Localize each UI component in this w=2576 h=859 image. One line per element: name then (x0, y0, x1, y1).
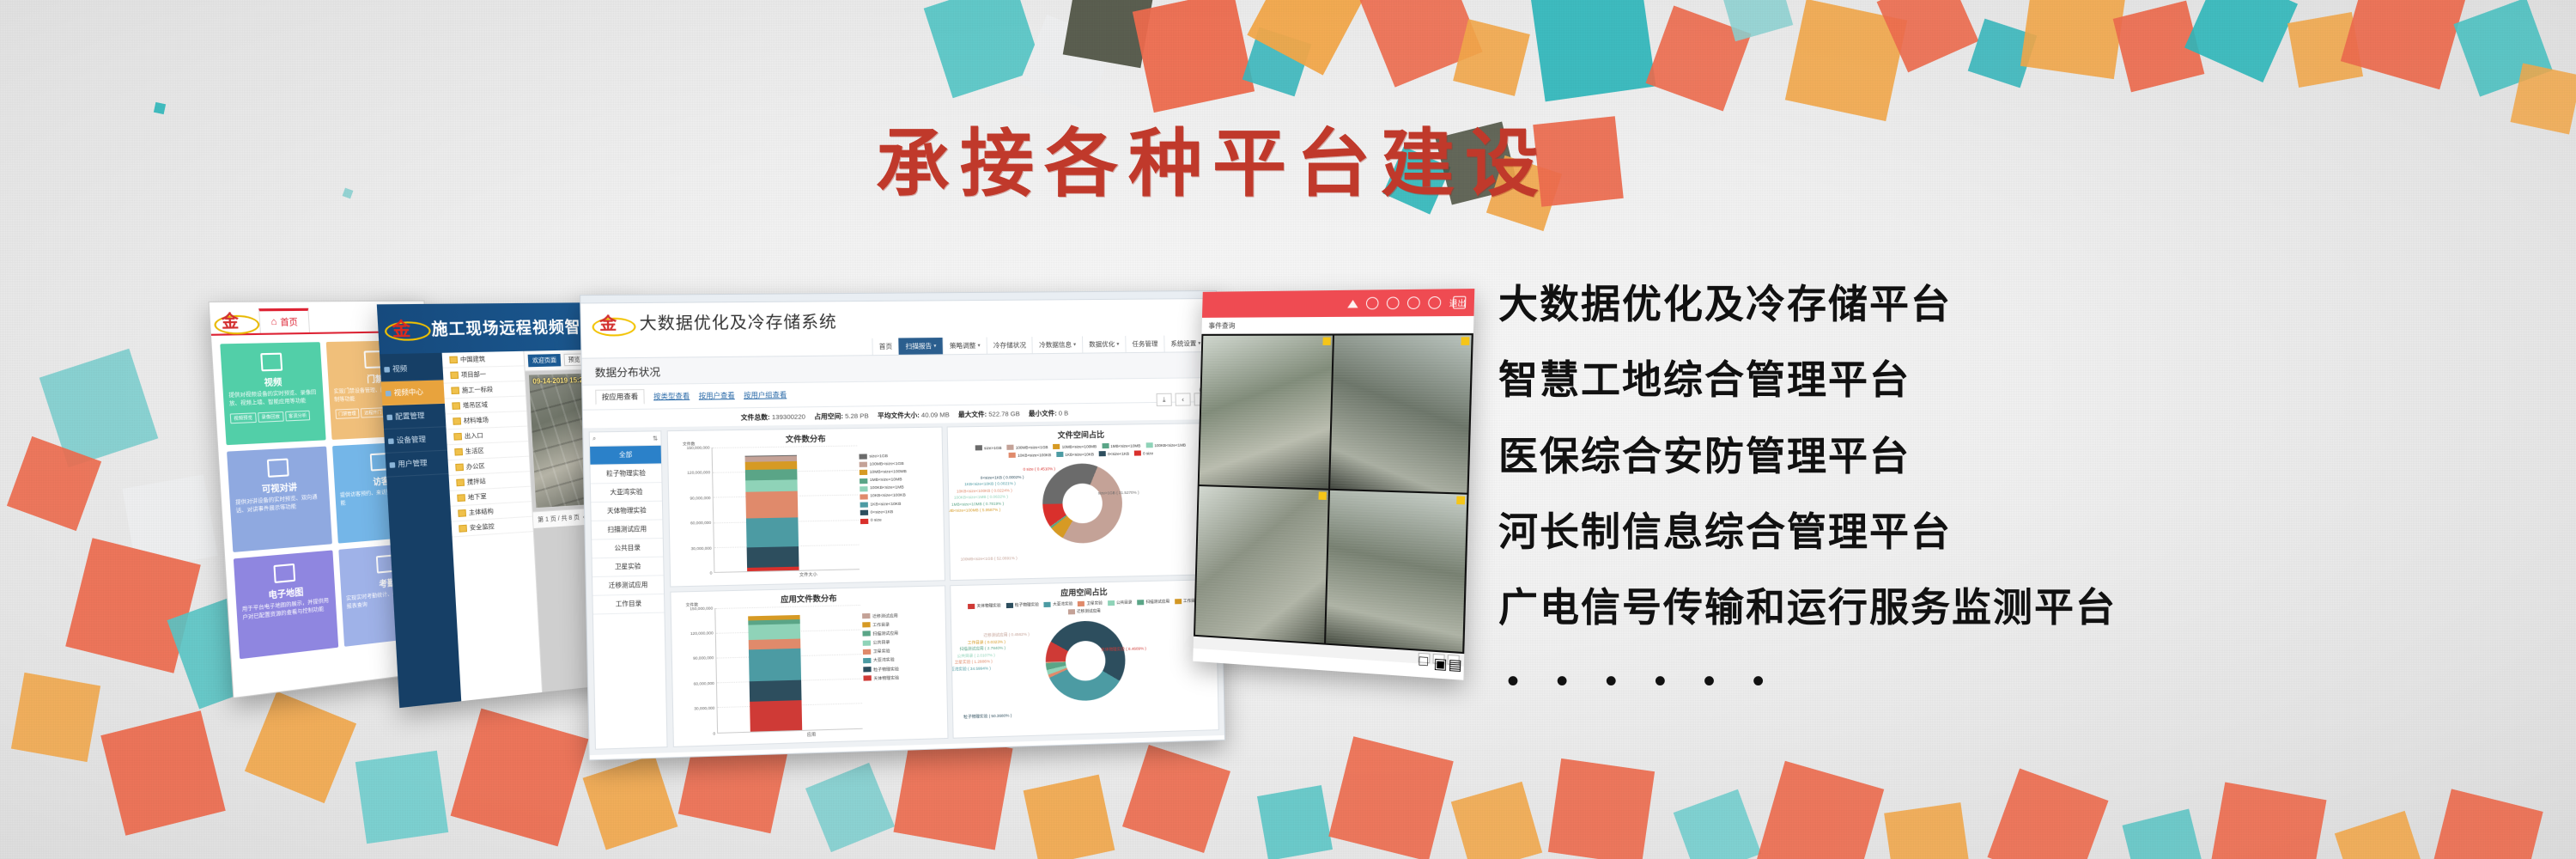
nav-item-冷存储状况[interactable]: 冷存储状况 (987, 337, 1033, 354)
legend-item[interactable]: 天体物理实验 (968, 603, 1000, 609)
legend-item[interactable]: 大亚湾实验 (863, 655, 941, 664)
decor-square (1884, 802, 1971, 859)
pie-annotation: 10MB<size<100MB ( 5.9587% ) (946, 508, 1000, 513)
bar-segment[interactable] (748, 649, 800, 681)
legend-label: 10MB<size<100MB (870, 470, 907, 475)
pager-label: 第 1 页 / 共 8 页 (538, 513, 580, 524)
donut-ring[interactable] (1045, 619, 1126, 701)
card-chip[interactable]: 视频预览 (230, 412, 257, 423)
scanline-overlay (1326, 490, 1467, 652)
decor-square (583, 755, 678, 850)
bullet-icon (386, 390, 392, 396)
home-icon: ⌂ (270, 316, 277, 327)
legend-item[interactable]: 10MB<size<100MB (1054, 443, 1097, 449)
decor-square (1024, 775, 1115, 859)
legend-swatch (859, 478, 866, 484)
legend-swatch (1044, 601, 1051, 606)
legend-label: 100MB<size<1GB (870, 462, 904, 467)
camera-tile[interactable] (1326, 490, 1467, 652)
legend-label: 迁移测试应用 (872, 612, 898, 619)
folder-icon (449, 356, 458, 364)
legend-swatch (863, 667, 871, 672)
folder-icon (456, 478, 465, 486)
y-tick-label: 90,000,000 (690, 496, 710, 501)
bar-segment[interactable] (747, 567, 799, 571)
legend-item[interactable]: 100MB<size<1GB (1007, 444, 1048, 450)
legend-label: 卫星实验 (1086, 600, 1103, 606)
decor-square (1122, 745, 1230, 853)
search-icon: ⌕ (592, 436, 596, 442)
legend-item[interactable]: 0 size (860, 517, 938, 524)
card-chip[interactable]: 客流分析 (285, 411, 311, 422)
app-title: 大数据优化及冷存储系统 (639, 308, 837, 334)
legend-item[interactable]: 1MB<size<10MB (1102, 442, 1140, 448)
ellipsis-dots: • • • • • • (1507, 662, 2529, 701)
sidebar-item[interactable]: 天体物理实验 (591, 502, 662, 521)
stat-item: 平均文件大小: 40.09 MB (878, 410, 950, 420)
chart-app-space-share: 应用空间占比 天体物理实验粒子物理实验大亚湾实验卫星实验公共目录扫描测试应用工作… (950, 579, 1219, 739)
camera-badge (1461, 337, 1469, 345)
scanline-overlay (1195, 486, 1328, 643)
legend-item[interactable]: 扫描测试应用 (1137, 599, 1170, 605)
brand-logo-icon: 金 (592, 310, 632, 333)
bar-segment[interactable] (748, 624, 800, 639)
platform-item: 广电信号传输和运行服务监测平台 (1498, 587, 2529, 628)
banner-stage: 金 ⌂ 首页 视频提供对视频设备的实时预览、录像回放、视频上墙、智能应用等功能视… (0, 0, 2576, 859)
camera-timestamp: 09-14-2019 15:21 (532, 376, 586, 386)
card-chip[interactable]: 远程开门 (361, 407, 385, 417)
y-tick-label: 0 (713, 731, 715, 735)
donut-legend: size>1GB100MB<size<1GB10MB<size<100MB1MB… (948, 440, 1213, 459)
w2-nav-item[interactable]: 用户管理 (386, 451, 449, 478)
legend-swatch (863, 676, 871, 681)
decor-square (2020, 0, 2127, 79)
legend-item[interactable]: 0 size (1134, 450, 1153, 455)
legend-swatch (862, 640, 870, 645)
legend-item[interactable]: 粒子物理实验 (1006, 602, 1039, 608)
legend-swatch (1054, 444, 1060, 449)
camera-badge (1318, 491, 1326, 500)
legend-item[interactable]: 1MB<size<10MB (859, 477, 937, 484)
decor-square (1757, 761, 1884, 859)
legend-swatch (1006, 602, 1013, 607)
decor-square (2428, 789, 2543, 859)
video-icon (260, 353, 283, 372)
legend-swatch (1108, 600, 1115, 605)
legend-label: 0 size (1143, 451, 1153, 455)
legend-swatch (1175, 599, 1182, 604)
legend-item[interactable]: 0<size<1KB (1099, 451, 1129, 457)
sidebar-list[interactable]: 全部粒子物理实验大亚湾实验天体物理实验扫描测试应用公共目录卫星实验迁移测试应用工… (590, 446, 664, 615)
stat-value: 139300220 (770, 412, 805, 421)
legend-item[interactable]: 100MB<size<1GB (859, 461, 937, 468)
legend-swatch (862, 649, 870, 654)
card-chip[interactable]: 录像回放 (258, 411, 283, 423)
legend-label: 1MB<size<10MB (1110, 443, 1140, 448)
stat-item: 占用空间: 5.28 PB (814, 411, 869, 421)
legend-item[interactable]: size>1GB (859, 453, 937, 460)
bullet-icon (386, 414, 392, 420)
legend-swatch (1009, 453, 1016, 458)
legend-label: 0<size<1KB (1108, 451, 1129, 455)
nav-item-首页[interactable]: 首页 (872, 338, 898, 356)
decor-square (2207, 782, 2326, 859)
pie-annotation: 卫星实验 ( 1.2886% ) (955, 660, 993, 666)
chevron-down-icon: ▾ (977, 343, 980, 349)
platform-item: 河长制信息综合管理平台 (1498, 511, 2529, 552)
legend-item[interactable]: 扫描测试应用 (862, 629, 940, 637)
bar-segment[interactable] (746, 546, 799, 568)
legend-item[interactable]: 天体物理实验 (863, 673, 941, 682)
legend-item[interactable]: 0<size<1KB (860, 509, 938, 515)
legend-swatch (863, 658, 871, 663)
legend-label: 粒子物理实验 (1015, 602, 1039, 608)
stacked-bar-chart: 文件数030,000,00060,000,00090,000,000120,00… (668, 444, 944, 574)
info-icon[interactable] (1407, 296, 1420, 309)
bar-segment[interactable] (745, 491, 798, 518)
bullet-icon (388, 438, 394, 444)
card-chip[interactable]: 门禁管理 (335, 408, 360, 419)
legend-label: 1KB<size<10KB (1065, 452, 1094, 457)
home-icon[interactable] (1347, 300, 1358, 308)
platform-item: 医保综合安防管理平台 (1498, 436, 2529, 477)
legend-label: 公共目录 (1116, 600, 1133, 605)
folder-icon (453, 417, 461, 425)
pie-annotation: size>1GB ( 31.5270% ) (1098, 490, 1139, 495)
scanline-overlay (1200, 336, 1333, 489)
w4-header[interactable]: 退出 (1202, 289, 1474, 318)
w3-brand: 金 大数据优化及冷存储系统 (580, 299, 1217, 341)
pie-annotation: 大亚湾实验 ( 34.5994% ) (950, 666, 991, 672)
legend-label: 1MB<size<10MB (870, 478, 902, 483)
feature-card[interactable]: 电子地图用于平台电子地图的展示，并提供用户对已配置资源的查看与控制功能 (234, 551, 338, 660)
window-dashboard[interactable]: 金 大数据优化及冷存储系统 首页扫描报告▾策略调整▾冷存储状况冷数据信息▾数据优… (580, 290, 1225, 760)
legend-label: 迁移测试应用 (1077, 608, 1101, 614)
legend-swatch (1007, 445, 1014, 450)
decor-square (245, 691, 356, 803)
legend-item[interactable]: 1KB<size<10KB (860, 501, 938, 508)
sidebar-item[interactable]: 全部 (590, 446, 661, 466)
folder-icon (457, 494, 465, 502)
legend-item[interactable]: 公共目录 (862, 637, 940, 645)
y-axis: 文件数030,000,00060,000,00090,000,000120,00… (670, 448, 714, 574)
bar-stack[interactable] (748, 614, 802, 731)
w2-nav-item[interactable]: 配置管理 (382, 404, 446, 429)
legend-swatch (859, 454, 866, 459)
chart-legend: size>1GB100MB<size<1GB10MB<size<100MB1MB… (857, 444, 940, 570)
legend-swatch (860, 503, 867, 508)
decor-square (343, 188, 354, 199)
stat-value: 522.78 GB (987, 410, 1020, 418)
pie-annotation: 工作目录 ( 0.0323% ) (968, 639, 1005, 645)
stats-action-button[interactable]: ‹ (1176, 393, 1191, 405)
decor-square (805, 763, 895, 852)
nav-item-系统设置[interactable]: 系统设置▾ (1163, 335, 1206, 352)
legend-item[interactable]: 迁移测试应用 (862, 611, 940, 618)
window-monitoring[interactable]: 退出 事件查询 □▣▤ (1193, 289, 1474, 680)
stat-item: 最大文件: 522.78 GB (958, 409, 1020, 419)
legend-item[interactable]: 工作目录 (862, 620, 940, 628)
y-tick-label: 150,000,000 (690, 606, 713, 611)
legend-item[interactable]: 卫星实验 (1078, 600, 1103, 606)
nav-item-策略调整[interactable]: 策略调整▾ (942, 338, 986, 355)
pie-annotation: 1MB<size<10MB ( 0.7819% ) (951, 502, 1004, 507)
legend-label: 扫描测试应用 (1145, 599, 1170, 605)
folder-icon (455, 464, 464, 472)
legend-label: 100KB<size<1MB (870, 486, 904, 491)
folder-icon (458, 509, 466, 517)
legend-label: 0 size (871, 519, 882, 523)
bar-segment[interactable] (744, 469, 797, 480)
y-tick-label: 0 (710, 570, 713, 575)
bar-stack[interactable] (744, 455, 799, 571)
bullet-icon (389, 462, 395, 468)
decor-square (1988, 769, 2109, 859)
camera-tile[interactable] (1330, 335, 1472, 492)
download-icon[interactable] (1428, 296, 1441, 309)
legend-label: 1KB<size<10KB (870, 502, 901, 507)
legend-label: 公共目录 (873, 639, 890, 646)
legend-swatch (862, 613, 870, 618)
donut-ring[interactable] (1042, 463, 1122, 544)
legend-label: 10KB<size<100KB (1018, 453, 1051, 458)
legend-label: 10MB<size<100MB (1062, 444, 1097, 449)
sidebar-item[interactable]: 粒子物理实验 (590, 464, 661, 484)
bar-segment[interactable] (750, 700, 802, 731)
view-tab[interactable]: 按用户组查看 (744, 390, 787, 400)
card-chips: 视频预览录像回放客流分析 (230, 410, 319, 423)
card-title: 视频 (228, 374, 317, 390)
view-tab[interactable]: 按类型查看 (653, 392, 690, 402)
decor-square (11, 673, 100, 762)
stat-item: 最小文件: 0 B (1029, 408, 1069, 418)
card-description: 提供对讲设备的实时预览、双向通话、对讲事件展示等功能 (235, 494, 325, 516)
legend-label: 卫星实验 (873, 648, 890, 655)
legend-item[interactable]: 100KB<size<1MB (860, 484, 938, 491)
view-tab[interactable]: 按应用查看 (595, 389, 645, 405)
feature-card[interactable]: 视频提供对视频设备的实时预览、录像回放、视频上墙、智能应用等功能视频预览录像回放… (220, 342, 325, 445)
legend-label: 100KB<size<1MB (1154, 442, 1186, 448)
legend-label: 天体物理实验 (873, 674, 899, 681)
pie-annotation: 100KB<size<1MB ( 0.0632% ) (954, 495, 1008, 500)
legend-label: 粒子物理实验 (873, 666, 899, 673)
legend-swatch (860, 518, 867, 523)
nav-item-数据优化[interactable]: 数据优化▾ (1082, 336, 1126, 353)
decor-square (1451, 782, 1542, 859)
decor-square (154, 102, 166, 114)
w4-subbar[interactable]: 事件查询 (1201, 316, 1473, 334)
stat-value: 0 B (1057, 409, 1069, 417)
chart-legend: 迁移测试应用工作目录扫描测试应用公共目录卫星实验大亚湾实验粒子物理实验天体物理实… (860, 602, 943, 728)
chart-file-space-share: 文件空间占比 size>1GB100MB<size<1GB10MB<size<1… (946, 423, 1216, 581)
pie-annotation: 扫描测试应用 ( 2.7840% ) (959, 646, 1005, 652)
scanline-overlay (1330, 335, 1472, 492)
pie-annotation: 迁移测试应用 ( 0.4562% ) (983, 632, 1030, 638)
stat-value: 40.09 MB (920, 411, 950, 419)
platform-list: 大数据优化及冷存储平台 智慧工地综合管理平台 医保综合安防管理平台 河长制信息综… (1498, 283, 2529, 701)
help-icon[interactable] (1387, 296, 1400, 309)
app-sidebar[interactable]: ⌕ ⇅ 全部粒子物理实验大亚湾实验天体物理实验扫描测试应用公共目录卫星实验迁移测… (589, 430, 668, 749)
legend-item[interactable]: 1KB<size<10KB (1056, 451, 1094, 457)
view-tab[interactable]: 按用户查看 (699, 391, 735, 401)
bar-segment[interactable] (749, 680, 801, 702)
w2-nav-item[interactable]: 视频 (380, 356, 443, 381)
chevron-down-icon: ▾ (933, 343, 936, 349)
device-icon[interactable] (1453, 296, 1466, 309)
decor-square (1453, 19, 1530, 96)
y-tick-label: 120,000,000 (687, 471, 710, 476)
folder-icon (453, 433, 462, 441)
platform-item: 大数据优化及冷存储平台 (1498, 283, 2529, 325)
pie-annotation: 0 size ( 0.4510% ) (1023, 466, 1055, 472)
pie-annotation: 公共目录 ( 2.0107% ) (957, 653, 994, 659)
y-tick-label: 30,000,000 (694, 706, 714, 711)
y-tick-label: 90,000,000 (693, 655, 714, 661)
legend-label: 大亚湾实验 (873, 657, 895, 664)
legend-item[interactable]: 迁移测试应用 (1068, 608, 1101, 614)
decor-square (1257, 785, 1333, 859)
y-tick-label: 60,000,000 (690, 521, 711, 526)
legend-label: 0<size<1KB (871, 510, 894, 515)
camera-tile[interactable] (1200, 336, 1333, 489)
chart-file-count-distribution: 文件数分布 文件数030,000,00060,000,00090,000,000… (667, 427, 945, 587)
donut-chart: 天体物理实验 ( 8.4609% )粒子物理实验 ( 50.3680% )大亚湾… (951, 612, 1218, 728)
pie-annotation: 100MB<size<1GB ( 52.0691% ) (961, 556, 1018, 561)
w2-nav-item[interactable]: 设备管理 (384, 427, 447, 454)
w2-tab-welcome[interactable]: 欢迎页面 (528, 354, 562, 367)
decor-square (100, 710, 225, 835)
nav-item-冷数据信息[interactable]: 冷数据信息▾ (1032, 336, 1082, 353)
layout-button[interactable]: □ (1418, 652, 1430, 662)
layout-button[interactable]: ▤ (1448, 654, 1460, 665)
camera-badge (1322, 338, 1330, 345)
legend-item[interactable]: 公共目录 (1108, 600, 1133, 606)
legend-swatch (1056, 452, 1063, 457)
legend-swatch (859, 462, 866, 467)
bar-segment[interactable] (745, 517, 798, 547)
platform-item: 智慧工地综合管理平台 (1498, 359, 2529, 400)
legend-label: 100MB<size<1GB (1016, 445, 1048, 450)
legend-swatch (1099, 451, 1106, 456)
legend-label: 大亚湾实验 (1053, 601, 1072, 607)
pie-annotation: 1KB<size<10KB ( 0.0021% ) (964, 481, 1016, 486)
decor-square (1133, 0, 1255, 113)
legend-swatch (1145, 442, 1152, 448)
sidebar-item[interactable]: 迁移测试应用 (592, 576, 664, 596)
camera-grid[interactable] (1194, 333, 1473, 654)
legend-item[interactable]: size>1GB (975, 445, 1002, 451)
brand-logo-icon: 金 (213, 308, 256, 332)
decor-square (1530, 0, 1656, 101)
legend-swatch (968, 603, 975, 608)
legend-label: 扫描测试应用 (872, 630, 898, 637)
chevron-down-icon: ▾ (1198, 340, 1200, 346)
bar-segment[interactable] (745, 479, 798, 492)
decor-square (355, 751, 448, 844)
stat-item: 文件总数: 139300220 (741, 411, 805, 422)
y-tick-label: 150,000,000 (687, 445, 710, 450)
w2-nav-item[interactable]: 视频中心 (381, 380, 445, 405)
legend-swatch (1102, 443, 1109, 448)
sidebar-item[interactable]: 工作目录 (592, 594, 664, 615)
card-description: 提供对视频设备的实时预览、录像回放、视频上墙、智能应用等功能 (228, 389, 319, 409)
layout-button[interactable]: ▣ (1432, 653, 1444, 663)
plot-area (712, 445, 860, 573)
decor-square (2123, 809, 2206, 859)
decor-square (1548, 758, 1655, 859)
folder-icon (452, 402, 460, 410)
legend-swatch (1068, 609, 1075, 614)
page-title-headline: 承接各种平台建设 (876, 103, 1549, 210)
pie-annotation: 天体物理实验 ( 8.4609% ) (1101, 647, 1146, 653)
sidebar-search-row[interactable]: ⌕ ⇅ (590, 431, 661, 447)
chevron-down-icon: ▾ (1116, 341, 1119, 347)
legend-item[interactable]: 粒子物理实验 (863, 665, 941, 673)
folder-icon (459, 525, 467, 533)
camera-badge (1456, 497, 1465, 505)
legend-swatch (1134, 450, 1141, 455)
sidebar-item[interactable]: 卫星实验 (592, 557, 664, 577)
legend-swatch (860, 510, 867, 515)
tab-event-query[interactable]: 事件查询 (1208, 320, 1235, 330)
folder-icon (454, 448, 463, 456)
pie-annotation: 粒子物理实验 ( 50.3680% ) (963, 714, 1012, 721)
decor-square (451, 709, 589, 847)
legend-item[interactable]: 10MB<size<100MB (859, 469, 937, 476)
user-icon[interactable] (1366, 297, 1379, 310)
legend-label: 工作目录 (872, 621, 890, 628)
legend-swatch (860, 486, 867, 491)
decor-square (1328, 736, 1453, 859)
folder-icon (451, 387, 459, 394)
legend-swatch (1137, 600, 1144, 605)
y-tick-label: 30,000,000 (691, 545, 712, 551)
intercom-icon (267, 458, 289, 477)
legend-swatch (862, 622, 870, 627)
pie-annotation: 10KB<size<100KB ( 0.0224% ) (957, 488, 1012, 493)
nav-item-任务管理[interactable]: 任务管理 (1125, 336, 1163, 353)
legend-item[interactable]: 10KB<size<100KB (1009, 452, 1051, 458)
sort-icon[interactable]: ⇅ (653, 435, 658, 442)
feature-card[interactable]: 可视对讲提供对讲设备的实时预览、双向通话、对讲事件展示等功能 (227, 447, 331, 552)
chevron-down-icon: ▾ (1073, 342, 1076, 348)
legend-item[interactable]: 10KB<size<100KB (860, 493, 938, 500)
legend-item[interactable]: 卫星实验 (862, 647, 940, 655)
folder-icon (450, 371, 459, 379)
chart-app-file-count-distribution: 应用文件数分布 文件数030,000,00060,000,00090,000,0… (670, 585, 948, 747)
decor-square (1674, 789, 1762, 859)
sidebar-item[interactable]: 扫描测试应用 (592, 520, 663, 539)
legend-label: 10KB<size<100KB (870, 494, 906, 499)
legend-item[interactable]: 100KB<size<1MB (1145, 442, 1186, 448)
camera-tile[interactable] (1195, 486, 1328, 643)
stats-action-button[interactable]: ⤓ (1157, 393, 1172, 406)
legend-swatch (975, 445, 982, 450)
pie-annotation: 0<size<1KB ( 0.0002% ) (981, 475, 1024, 480)
legend-label: size>1GB (869, 454, 888, 459)
legend-label: size>1GB (984, 445, 1001, 449)
map-icon (274, 564, 296, 583)
nav-item-扫描报告[interactable]: 扫描报告▾ (898, 338, 943, 355)
stat-value: 5.28 PB (843, 411, 869, 420)
tab-home[interactable]: ⌂ 首页 (258, 308, 310, 333)
legend-swatch (860, 494, 867, 499)
legend-swatch (1078, 600, 1084, 606)
sidebar-item[interactable]: 大亚湾实验 (591, 483, 662, 503)
sidebar-item[interactable]: 公共目录 (592, 539, 663, 558)
legend-item[interactable]: 大亚湾实验 (1044, 601, 1072, 607)
y-axis: 文件数030,000,00060,000,00090,000,000120,00… (673, 608, 717, 734)
